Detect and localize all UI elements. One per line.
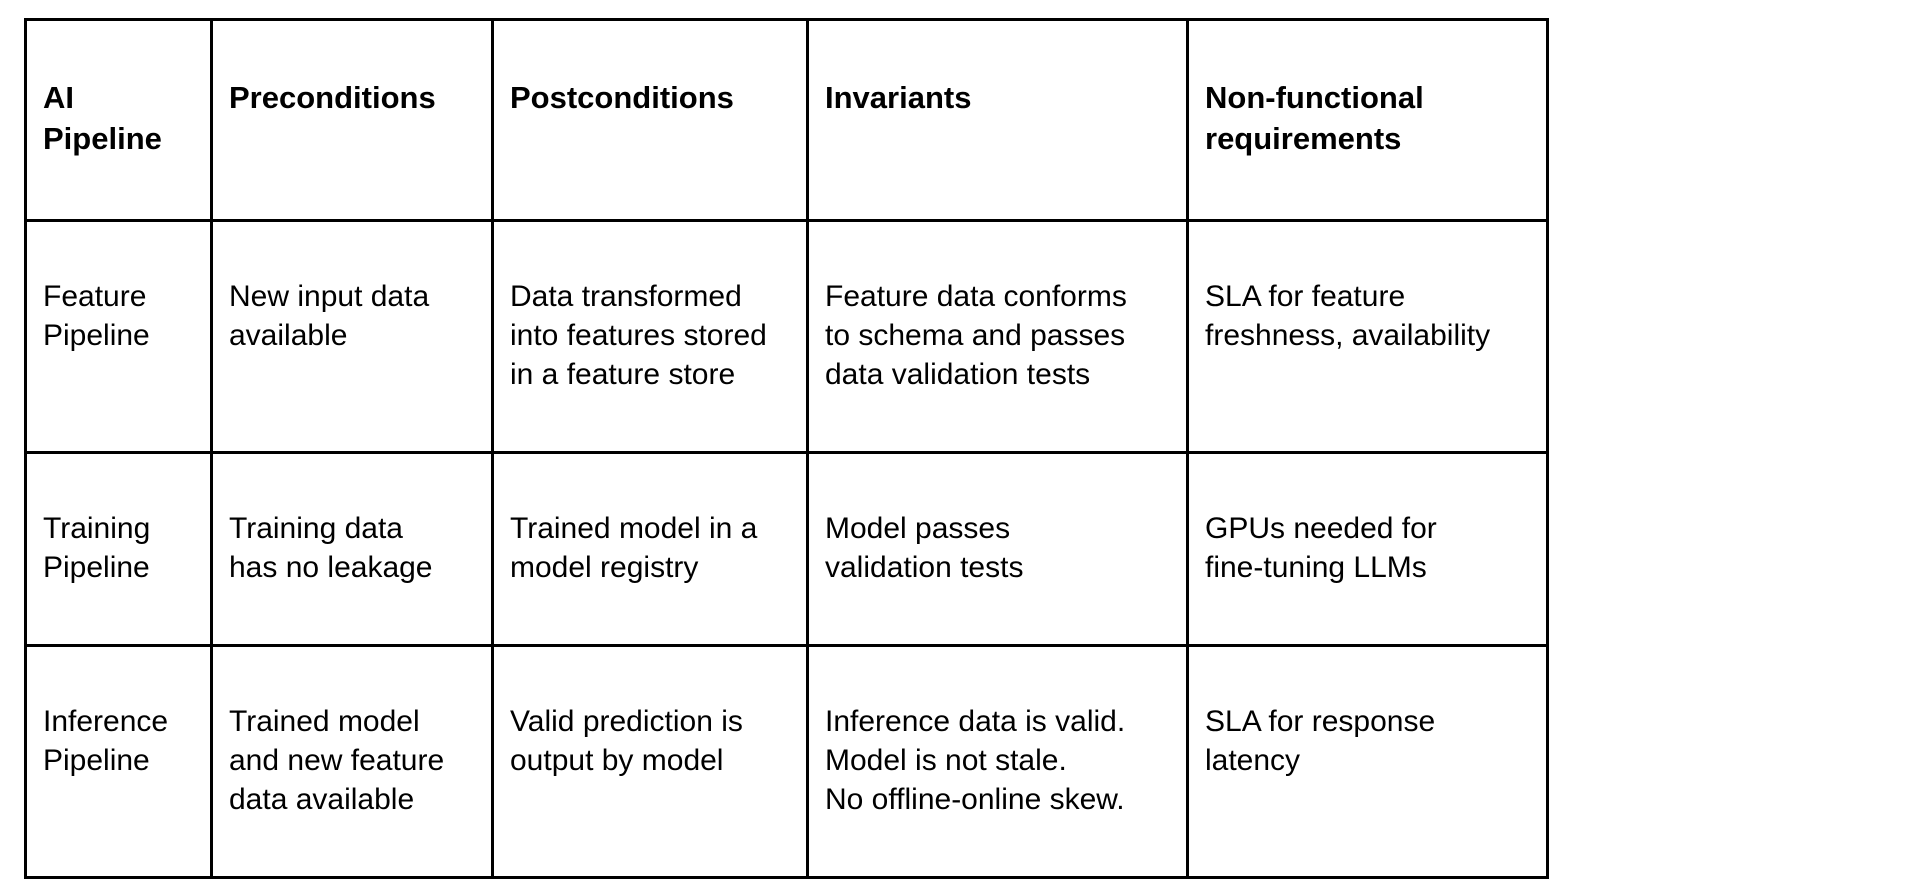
column-header-ai-pipeline: AI Pipeline bbox=[26, 20, 212, 221]
column-header-postconditions: Postconditions bbox=[493, 20, 808, 221]
table-body: Feature Pipeline New input data availabl… bbox=[26, 221, 1548, 878]
table-container: AI Pipeline Preconditions Postconditions… bbox=[24, 18, 1546, 879]
column-header-label: Postconditions bbox=[510, 78, 792, 118]
cell-text: Model passes validation tests bbox=[825, 509, 1172, 587]
cell-text: GPUs needed for fine-tuning LLMs bbox=[1205, 509, 1532, 587]
column-header-invariants: Invariants bbox=[808, 20, 1188, 221]
cell-non-functional: GPUs needed for fine-tuning LLMs bbox=[1188, 453, 1548, 646]
cell-invariants: Inference data is valid. Model is not st… bbox=[808, 646, 1188, 878]
cell-text: Data transformed into features stored in… bbox=[510, 277, 792, 394]
ai-pipeline-spec-table: AI Pipeline Preconditions Postconditions… bbox=[24, 18, 1549, 879]
cell-text: SLA for feature freshness, availability bbox=[1205, 277, 1532, 355]
table-row: Training Pipeline Training data has no l… bbox=[26, 453, 1548, 646]
cell-preconditions: Trained model and new feature data avail… bbox=[212, 646, 493, 878]
table-row: Inference Pipeline Trained model and new… bbox=[26, 646, 1548, 878]
cell-text: Inference data is valid. Model is not st… bbox=[825, 702, 1172, 819]
cell-pipeline: Training Pipeline bbox=[26, 453, 212, 646]
page-root: AI Pipeline Preconditions Postconditions… bbox=[0, 0, 1932, 714]
table-header-row: AI Pipeline Preconditions Postconditions… bbox=[26, 20, 1548, 221]
column-header-label: Preconditions bbox=[229, 78, 477, 118]
cell-text: Feature data conforms to schema and pass… bbox=[825, 277, 1172, 394]
cell-text: New input data available bbox=[229, 277, 477, 355]
cell-non-functional: SLA for response latency bbox=[1188, 646, 1548, 878]
column-header-label: Non-functional requirements bbox=[1205, 78, 1532, 159]
cell-pipeline: Feature Pipeline bbox=[26, 221, 212, 453]
cell-preconditions: New input data available bbox=[212, 221, 493, 453]
table-row: Feature Pipeline New input data availabl… bbox=[26, 221, 1548, 453]
cell-text: Training data has no leakage bbox=[229, 509, 477, 587]
cell-text: Training Pipeline bbox=[43, 509, 196, 587]
column-header-label: Invariants bbox=[825, 78, 1172, 118]
cell-text: Feature Pipeline bbox=[43, 277, 196, 355]
column-header-non-functional-requirements: Non-functional requirements bbox=[1188, 20, 1548, 221]
cell-invariants: Feature data conforms to schema and pass… bbox=[808, 221, 1188, 453]
table-header: AI Pipeline Preconditions Postconditions… bbox=[26, 20, 1548, 221]
cell-text: Trained model and new feature data avail… bbox=[229, 702, 477, 819]
cell-invariants: Model passes validation tests bbox=[808, 453, 1188, 646]
cell-pipeline: Inference Pipeline bbox=[26, 646, 212, 878]
cell-preconditions: Training data has no leakage bbox=[212, 453, 493, 646]
cell-text: Trained model in a model registry bbox=[510, 509, 792, 587]
column-header-preconditions: Preconditions bbox=[212, 20, 493, 221]
column-header-label: AI Pipeline bbox=[43, 78, 196, 159]
cell-postconditions: Data transformed into features stored in… bbox=[493, 221, 808, 453]
cell-non-functional: SLA for feature freshness, availability bbox=[1188, 221, 1548, 453]
cell-postconditions: Valid prediction is output by model bbox=[493, 646, 808, 878]
cell-postconditions: Trained model in a model registry bbox=[493, 453, 808, 646]
